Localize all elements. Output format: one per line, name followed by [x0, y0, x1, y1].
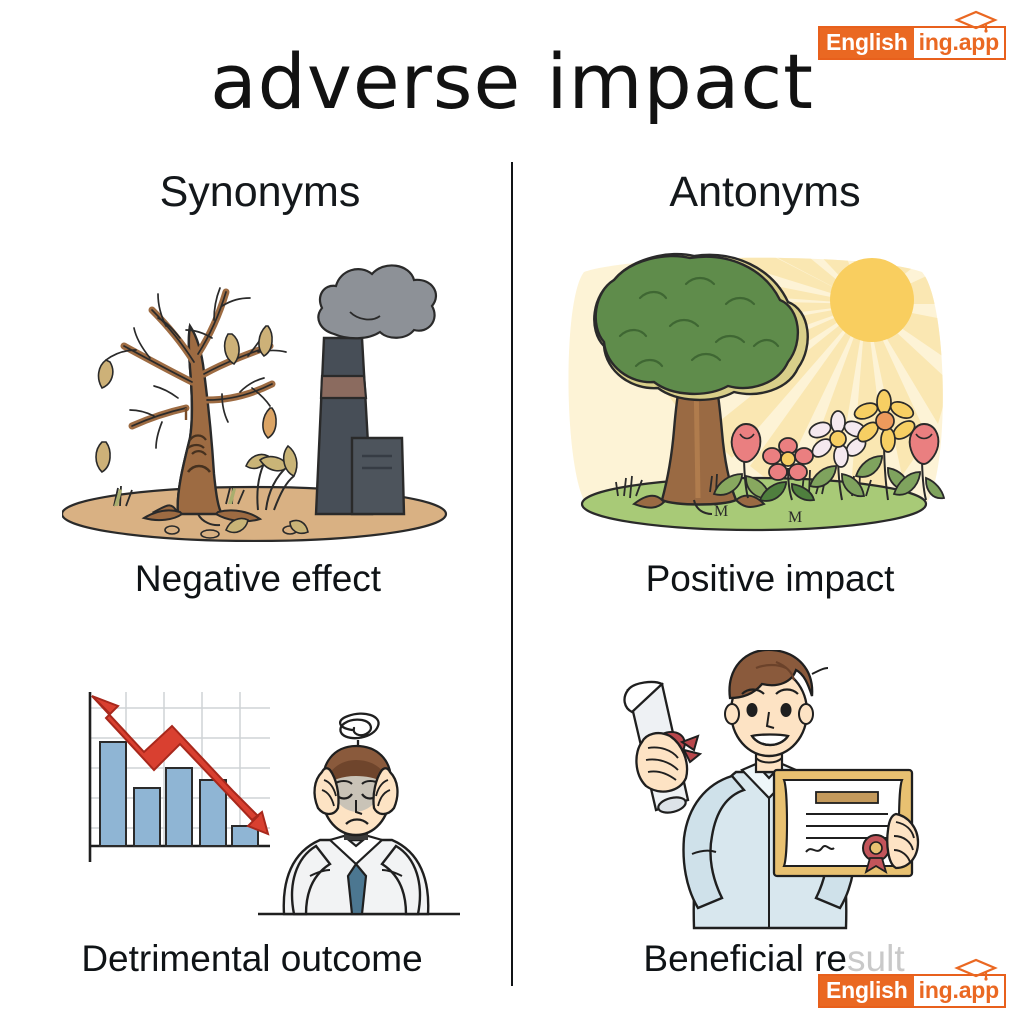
- healthy-tree-with-sun-and-flowers-icon: M M: [566, 242, 954, 542]
- bar-2: [134, 788, 160, 846]
- caption-beneficial-result-visible: Beneficial re: [643, 938, 847, 979]
- caption-detrimental-outcome: Detrimental outcome: [12, 938, 492, 980]
- svg-text:M: M: [788, 509, 802, 526]
- dead-tree-with-smokestack-icon: [62, 242, 452, 542]
- column-header-antonyms: Antonyms: [565, 168, 965, 217]
- bar-3: [166, 768, 192, 846]
- watermark-segment-english: English: [820, 28, 914, 58]
- svg-text:M: M: [714, 503, 728, 520]
- caption-positive-impact: Positive impact: [540, 558, 1000, 600]
- declining-chart-with-stressed-man-icon: [62, 668, 462, 924]
- caption-beneficial-result-faded: sult: [847, 938, 905, 979]
- graduation-cap-icon: [954, 9, 998, 33]
- graduate-with-diploma-and-certificate-icon: [566, 650, 958, 930]
- infographic-page: adverse impact Synonyms Antonyms: [0, 0, 1024, 1024]
- watermark-logo-top: English ing.app: [818, 26, 1006, 60]
- bar-1: [100, 742, 126, 846]
- column-header-synonyms: Synonyms: [60, 168, 460, 217]
- dizzy-spiral-icon: [340, 714, 378, 739]
- caption-negative-effect: Negative effect: [28, 558, 488, 600]
- bar-4: [200, 780, 226, 846]
- graduation-cap-icon: [954, 957, 998, 981]
- watermark-logo-bottom: English ing.app: [818, 974, 1006, 1008]
- column-divider: [511, 162, 513, 986]
- watermark-segment-english: English: [820, 976, 914, 1006]
